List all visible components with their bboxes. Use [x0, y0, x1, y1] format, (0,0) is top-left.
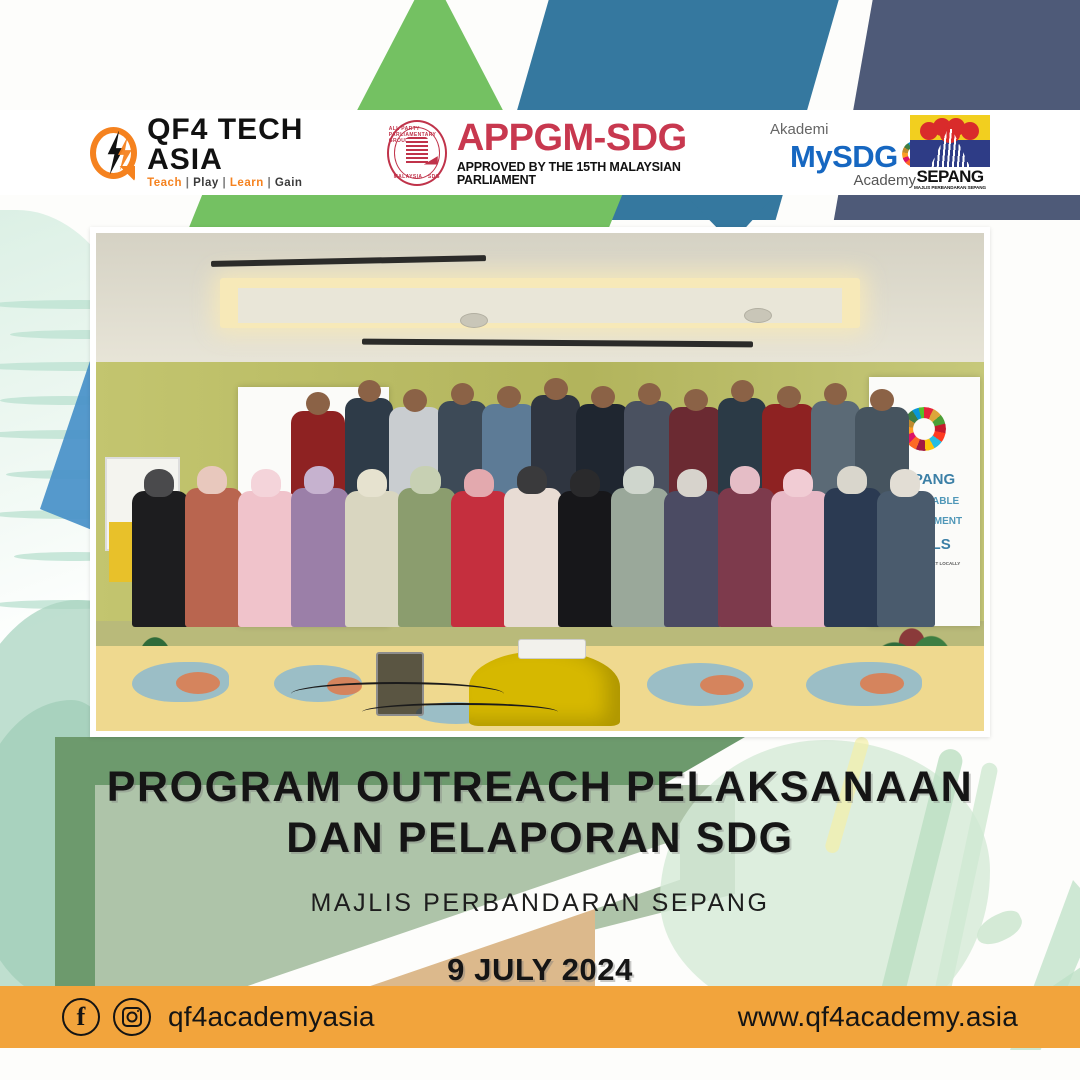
sepang-word: SEPANG [910, 168, 990, 185]
qf4-tech-asia-logo: QF4 TECH ASIA Teach | Play | Learn | Gai… [90, 115, 365, 190]
tagline-separator: | [186, 177, 190, 189]
participants-group [96, 343, 984, 652]
social-handle-text[interactable]: qf4academyasia [168, 1001, 375, 1033]
tagline-word-gain: Gain [275, 177, 303, 189]
sepang-council-logo: SEPANG MAJLIS PERBANDARAN SEPANG [910, 115, 990, 190]
projector [518, 639, 587, 659]
footer-bar: f qf4academyasia www.qf4academy.asia [0, 986, 1080, 1048]
parliament-seal-icon: ALL PARTY PARLIAMENTARY GROUP MALAYSIA -… [387, 120, 447, 186]
lightning-bolt-icon [90, 127, 137, 179]
sepang-crest-icon [910, 115, 990, 167]
title-line-2: DAN PELAPORAN SDG [0, 813, 1080, 864]
appgm-subtitle: APPROVED BY THE 15TH MALAYSIAN PARLIAMEN… [457, 161, 734, 186]
title-subtitle: MAJLIS PERBANDARAN SEPANG [0, 889, 1080, 918]
title-block: PROGRAM OUTREACH PELAKSANAAN DAN PELAPOR… [0, 762, 1080, 988]
event-date: 9 JULY 2024 [0, 952, 1080, 988]
mysdg-bottom-label: Academy [853, 172, 916, 189]
appgm-sdg-logo: ALL PARTY PARLIAMENTARY GROUP MALAYSIA -… [387, 119, 734, 186]
social-handles: f qf4academyasia [62, 998, 375, 1036]
logo-header-band: QF4 TECH ASIA Teach | Play | Learn | Gai… [0, 110, 1080, 195]
qf4-logo-name: QF4 TECH ASIA [147, 115, 365, 175]
sepang-subtext: MAJLIS PERBANDARAN SEPANG [910, 185, 990, 190]
page-title: PROGRAM OUTREACH PELAKSANAAN DAN PELAPOR… [0, 762, 1080, 863]
mysdg-academy-logo: Akademi MySDG Academy [760, 117, 910, 189]
event-photo-frame: SEPANG SUSTAINABLE DEVELOPMENT SEPANG SU… [90, 227, 990, 737]
mysdg-top-label: Akademi [770, 121, 828, 138]
cable [362, 703, 557, 721]
tagline-word-play: Play [193, 177, 219, 189]
poster-canvas: QF4 TECH ASIA Teach | Play | Learn | Gai… [0, 0, 1080, 1080]
tagline-word-teach: Teach [147, 177, 182, 189]
title-line-1: PROGRAM OUTREACH PELAKSANAAN [0, 762, 1080, 813]
seal-bottom-text: MALAYSIA - SDG [394, 174, 440, 180]
instagram-icon[interactable] [113, 998, 151, 1036]
qf4-logo-tagline: Teach | Play | Learn | Gain [147, 178, 365, 190]
tagline-separator: | [222, 177, 226, 189]
appgm-title: APPGM-SDG [457, 119, 734, 157]
website-url[interactable]: www.qf4academy.asia [738, 1001, 1018, 1033]
tagline-word-learn: Learn [230, 177, 264, 189]
mysdg-name: MySDG [790, 139, 898, 175]
tagline-separator: | [267, 177, 271, 189]
facebook-icon[interactable]: f [62, 998, 100, 1036]
event-photo: SEPANG SUSTAINABLE DEVELOPMENT SEPANG SU… [96, 233, 984, 731]
